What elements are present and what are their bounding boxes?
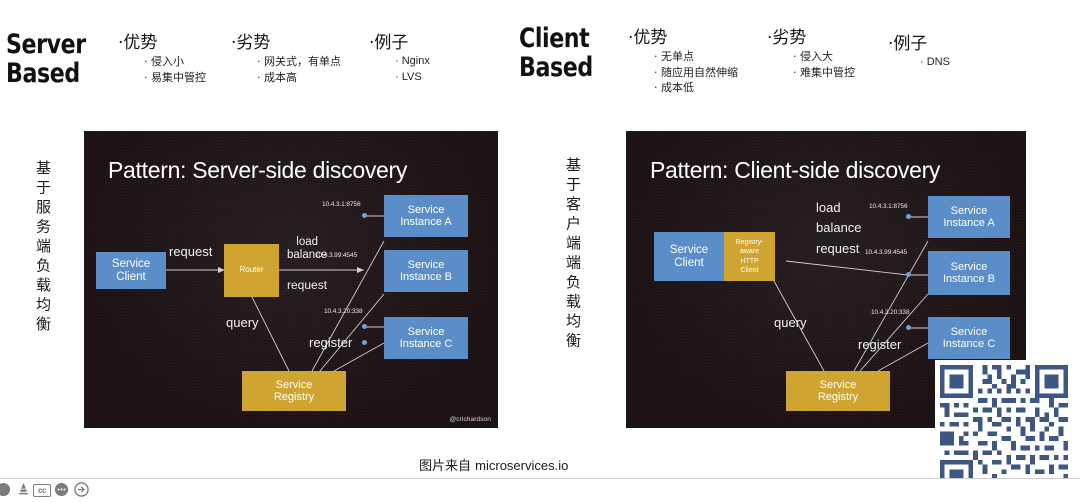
diagram-title: Pattern: Client-side discovery bbox=[650, 157, 940, 184]
label: 劣势 bbox=[772, 28, 806, 48]
label: 例子 bbox=[893, 34, 927, 54]
ip-label-instance-c: 10.4.3.20:338 bbox=[871, 309, 909, 316]
right-col-examples-item-0: · DNS bbox=[920, 55, 950, 71]
left-col-disadvantages: ·劣势 · 网关式，有单点 · 成本高 bbox=[231, 33, 341, 85]
left-col-advantages: ·优势 · 侵入小 · 易集中管控 bbox=[118, 33, 206, 85]
server-based-title: Server Based bbox=[6, 30, 86, 88]
bullet-dot-icon: · bbox=[793, 49, 797, 65]
edge-label-query: query bbox=[226, 316, 259, 329]
left-col-examples-item-1: · LVS bbox=[395, 70, 430, 86]
right-col-examples: ·例子 · DNS bbox=[888, 34, 950, 71]
label: 优势 bbox=[633, 28, 667, 48]
label: Nginx bbox=[402, 55, 430, 67]
right-col-advantages-item-0: · 无单点 bbox=[654, 49, 738, 65]
endpoint-dot-a bbox=[906, 214, 911, 219]
endpoint-dot-c bbox=[906, 325, 911, 330]
caption-source: microservices.io bbox=[475, 458, 568, 473]
bullet-dot-icon: · bbox=[793, 65, 797, 81]
edge-label-balance: balance bbox=[816, 221, 862, 234]
edge-label-request: request bbox=[816, 242, 859, 255]
left-col-disadvantages-head: ·劣势 bbox=[231, 33, 341, 54]
label: DNS bbox=[927, 56, 950, 68]
left-col-advantages-head: ·优势 bbox=[118, 33, 206, 54]
bullet-dot-icon: · bbox=[257, 70, 261, 86]
right-col-disadvantages-item-1: · 难集中管控 bbox=[793, 65, 855, 81]
bullet-dot-icon: · bbox=[654, 49, 658, 65]
edge-label-request-1: request bbox=[169, 245, 212, 258]
more-icon[interactable] bbox=[54, 482, 69, 497]
node-service-instance-a[interactable]: Service Instance A bbox=[384, 195, 468, 237]
right-col-advantages-item-2: · 成本低 bbox=[654, 80, 738, 96]
node-registry-aware-http-client[interactable]: Registry- aware HTTP Client bbox=[724, 232, 775, 281]
left-col-examples: ·例子 · Nginx · LVS bbox=[369, 33, 430, 85]
ip-label-instance-b: 10.4.3.99:4545 bbox=[315, 252, 357, 259]
label: 成本高 bbox=[264, 71, 297, 84]
endpoint-dot-c bbox=[362, 340, 367, 345]
right-col-advantages: ·优势 · 无单点 · 随应用自然伸缩 · 成本低 bbox=[628, 28, 738, 96]
node-service-client[interactable]: Service Client bbox=[96, 252, 166, 289]
label: 侵入大 bbox=[800, 50, 833, 63]
label: 随应用自然伸缩 bbox=[661, 66, 738, 79]
image-credit-caption: 图片来自 microservices.io bbox=[419, 455, 568, 474]
node-service-instance-c[interactable]: Service Instance C bbox=[928, 317, 1010, 359]
label: 劣势 bbox=[236, 33, 270, 53]
ip-label-instance-a: 10.4.3.1:8756 bbox=[869, 203, 907, 210]
node-service-instance-b[interactable]: Service Instance B bbox=[384, 250, 468, 292]
arrow-right-icon[interactable] bbox=[74, 482, 89, 497]
label: 例子 bbox=[374, 33, 408, 53]
bullet-dot-icon: · bbox=[395, 70, 399, 86]
client-based-title: Client Based bbox=[519, 24, 593, 82]
node-service-instance-c[interactable]: Service Instance C bbox=[384, 317, 468, 359]
diagram-title: Pattern: Server-side discovery bbox=[108, 157, 407, 184]
left-col-advantages-item-0: · 侵入小 bbox=[144, 54, 206, 70]
right-col-examples-head: ·例子 bbox=[888, 34, 950, 55]
bullet-dot-icon: · bbox=[920, 55, 924, 71]
bullet-dot-icon: · bbox=[395, 54, 399, 70]
label: 无单点 bbox=[661, 50, 694, 63]
node-router[interactable]: Router bbox=[224, 244, 279, 297]
edge-label-register: register bbox=[858, 338, 901, 351]
cc-icon[interactable]: cc bbox=[33, 482, 51, 497]
left-vertical-label: 基于服务端负载均衡 bbox=[33, 160, 53, 336]
endpoint-dot-b bbox=[362, 324, 367, 329]
slide-page: Server Based ·优势 · 侵入小 · 易集中管控 ·劣势 · 网关式… bbox=[0, 0, 1080, 503]
client-side-discovery-diagram: Pattern: Client-side discovery Service C… bbox=[626, 131, 1026, 428]
left-col-examples-item-0: · Nginx bbox=[395, 54, 430, 70]
label: LVS bbox=[402, 71, 422, 83]
bottom-toolbar: cc bbox=[0, 478, 1080, 503]
right-col-disadvantages-head: ·劣势 bbox=[767, 28, 855, 49]
caption-prefix: 图片来自 bbox=[419, 459, 471, 474]
right-col-disadvantages: ·劣势 · 侵入大 · 难集中管控 bbox=[767, 28, 855, 80]
brush-icon[interactable] bbox=[16, 482, 31, 497]
node-service-registry[interactable]: Service Registry bbox=[786, 371, 890, 411]
bullet-dot-icon: · bbox=[144, 54, 148, 70]
partial-left-icon[interactable] bbox=[0, 482, 11, 497]
left-col-advantages-item-1: · 易集中管控 bbox=[144, 70, 206, 86]
bullet-dot-icon: · bbox=[257, 54, 261, 70]
left-col-disadvantages-item-1: · 成本高 bbox=[257, 70, 341, 86]
bullet-dot-icon: · bbox=[654, 80, 658, 96]
right-col-advantages-head: ·优势 bbox=[628, 28, 738, 49]
edge-label-load: load bbox=[816, 201, 841, 214]
server-side-discovery-diagram: Pattern: Server-side discovery Service C… bbox=[84, 131, 498, 428]
right-col-advantages-item-1: · 随应用自然伸缩 bbox=[654, 65, 738, 81]
label: 侵入小 bbox=[151, 55, 184, 68]
right-vertical-label: 基于客户端端负载均衡 bbox=[563, 157, 583, 352]
label: 成本低 bbox=[661, 81, 694, 94]
left-col-examples-head: ·例子 bbox=[369, 33, 430, 54]
ip-label-instance-b: 10.4.3.99:4545 bbox=[865, 249, 907, 256]
right-col-disadvantages-item-0: · 侵入大 bbox=[793, 49, 855, 65]
label: 难集中管控 bbox=[800, 66, 855, 79]
ip-label-instance-c: 10.4.3.20:338 bbox=[324, 308, 362, 315]
node-service-instance-b[interactable]: Service Instance B bbox=[928, 251, 1010, 295]
edge-label-request-2: request bbox=[287, 279, 327, 292]
ip-label-instance-a: 10.4.3.1:8756 bbox=[322, 201, 360, 208]
edge-label-register: register bbox=[309, 336, 352, 349]
bullet-dot-icon: · bbox=[144, 70, 148, 86]
label: 易集中管控 bbox=[151, 71, 206, 84]
endpoint-dot-b bbox=[906, 272, 911, 277]
label: 优势 bbox=[123, 33, 157, 53]
node-service-client[interactable]: Service Client bbox=[654, 232, 724, 281]
node-service-registry[interactable]: Service Registry bbox=[242, 371, 346, 411]
node-service-instance-a[interactable]: Service Instance A bbox=[928, 196, 1010, 238]
endpoint-dot-a bbox=[362, 213, 367, 218]
bullet-dot-icon: · bbox=[654, 65, 658, 81]
edge-label-query: query bbox=[774, 316, 807, 329]
label: 网关式，有单点 bbox=[264, 55, 341, 68]
cc-label: cc bbox=[33, 484, 51, 497]
diagram-watermark: @crichardson bbox=[450, 416, 491, 423]
left-col-disadvantages-item-0: · 网关式，有单点 bbox=[257, 54, 341, 70]
